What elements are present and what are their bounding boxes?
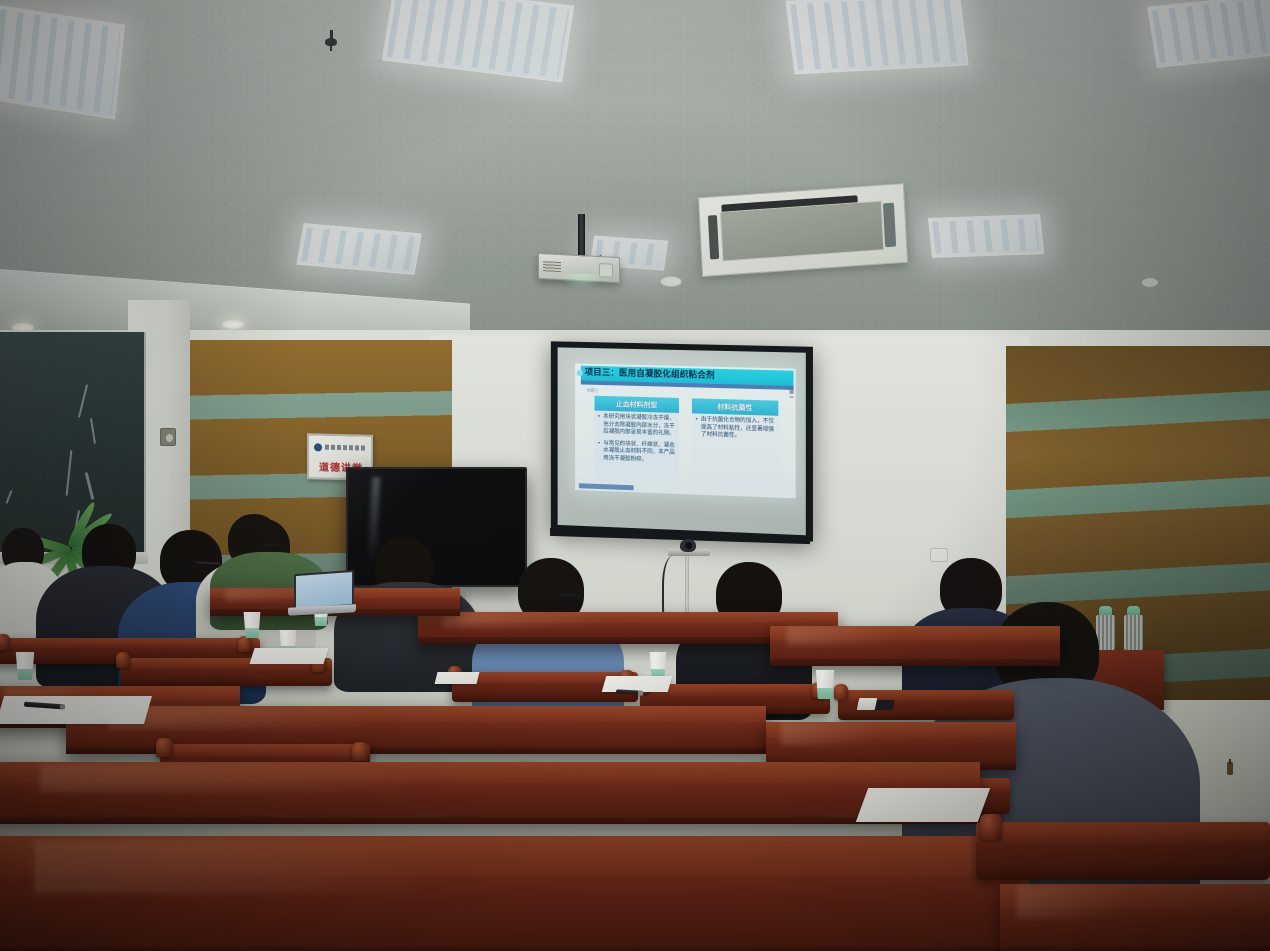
- flat-screen-tv: [346, 467, 527, 587]
- slide-footer-bar: [579, 483, 634, 490]
- slide-content-box-left: 止血材料剂型 本研究用块状凝胶冷冻干燥，充分去除凝胶内部水分，冻干后凝胶内部呈现…: [594, 396, 679, 484]
- smoke-detector-icon: [660, 276, 682, 287]
- wall-control-plate-icon: [160, 428, 176, 446]
- wall-outlet-icon: [930, 548, 948, 562]
- slide-subnote: 内容三: [587, 388, 599, 394]
- bench-knob: [352, 742, 369, 761]
- projector-beam-glow: [560, 274, 604, 290]
- sign-org-text: [325, 445, 366, 451]
- thermos-flask: [1096, 606, 1115, 650]
- slide-box-heading: 材料抗菌性: [692, 398, 778, 415]
- small-box-item: [857, 698, 878, 710]
- bench-knob: [116, 652, 130, 668]
- paper-sheet: [856, 788, 990, 822]
- screen-surface: 项目三：医用自凝胶化组织粘合剂 内容三 止血材料剂型 本研究用块状凝胶冷冻干燥，…: [558, 347, 806, 535]
- slide-content-box-right: 材料抗菌性 由于抗菌化合物的加入，不仅提高了材料粘性，还显著增强了材料抗菌性。: [692, 398, 778, 487]
- bench-knob: [0, 634, 10, 650]
- desk-row-foreground: [0, 836, 1030, 951]
- slide-title-marker-icon: [577, 371, 583, 376]
- slide-box-body: 本研究用块状凝胶冷冻干燥，充分去除凝胶内部水分，冻干后凝胶内部呈现丰富的孔隙。 …: [597, 414, 676, 481]
- presentation-slide: 项目三：医用自凝胶化组织粘合剂 内容三 止血材料剂型 本研究用块状凝胶冷冻干燥，…: [575, 364, 796, 499]
- slide-bullet: 由于抗菌化合物的加入，不仅提高了材料粘性，还显著增强了材料抗菌性。: [695, 416, 775, 441]
- slide-box-heading-text: 材料抗菌性: [717, 402, 752, 413]
- ac-vane-left: [708, 215, 719, 259]
- slide-box-body: 由于抗菌化合物的加入，不仅提高了材料粘性，还显著增强了材料抗菌性。: [695, 416, 775, 484]
- sprinkler-head-icon: [325, 30, 337, 50]
- slide-side-marker: [790, 390, 794, 394]
- sign-logo-icon: [314, 443, 322, 451]
- bench-knob: [834, 684, 848, 700]
- slide-side-marker: [790, 396, 794, 398]
- desk-foreground-right: [1000, 884, 1270, 951]
- paper-sheet: [0, 696, 152, 724]
- slide-bullet: 与常见的块状、纤维状、凝态水凝胶止血材料不同，本产品用冻干凝胶粉碎。: [597, 440, 676, 465]
- ceiling-speaker-icon: [1142, 278, 1158, 287]
- bench-back-foreground: [976, 822, 1270, 880]
- slide-box-heading-text: 止血材料剂型: [616, 399, 657, 410]
- camera-icon: [680, 539, 696, 552]
- projection-screen: 项目三：医用自凝胶化组织粘合剂 内容三 止血材料剂型 本研究用块状凝胶冷冻干燥，…: [551, 341, 813, 541]
- ac-vane-right: [883, 203, 896, 248]
- desk-row-back-right: [770, 626, 1060, 666]
- slide-bullet: 本研究用块状凝胶冷冻干燥，充分去除凝胶内部水分，冻干后凝胶内部呈现丰富的孔隙。: [597, 414, 676, 439]
- recessed-downlight: [222, 320, 244, 329]
- ac-grille: [720, 200, 885, 261]
- conference-room-photo: 道德讲堂 项目三：医用自凝胶化组织粘合剂 内容三 止血材料剂型 本研究用块状凝胶…: [0, 0, 1270, 951]
- paper-sheet: [249, 648, 328, 664]
- projector-vent: [543, 261, 561, 274]
- ceiling-ac-cassette: [698, 183, 908, 277]
- floor-bottle-icon: [1227, 762, 1233, 775]
- bench-knob: [156, 738, 173, 757]
- paper-sheet: [435, 672, 480, 684]
- bench-knob: [980, 814, 1002, 840]
- desk-row-front: [0, 762, 980, 824]
- thermos-flask: [1124, 606, 1143, 650]
- slide-box-heading: 止血材料剂型: [594, 396, 679, 413]
- bench-knob: [238, 636, 252, 652]
